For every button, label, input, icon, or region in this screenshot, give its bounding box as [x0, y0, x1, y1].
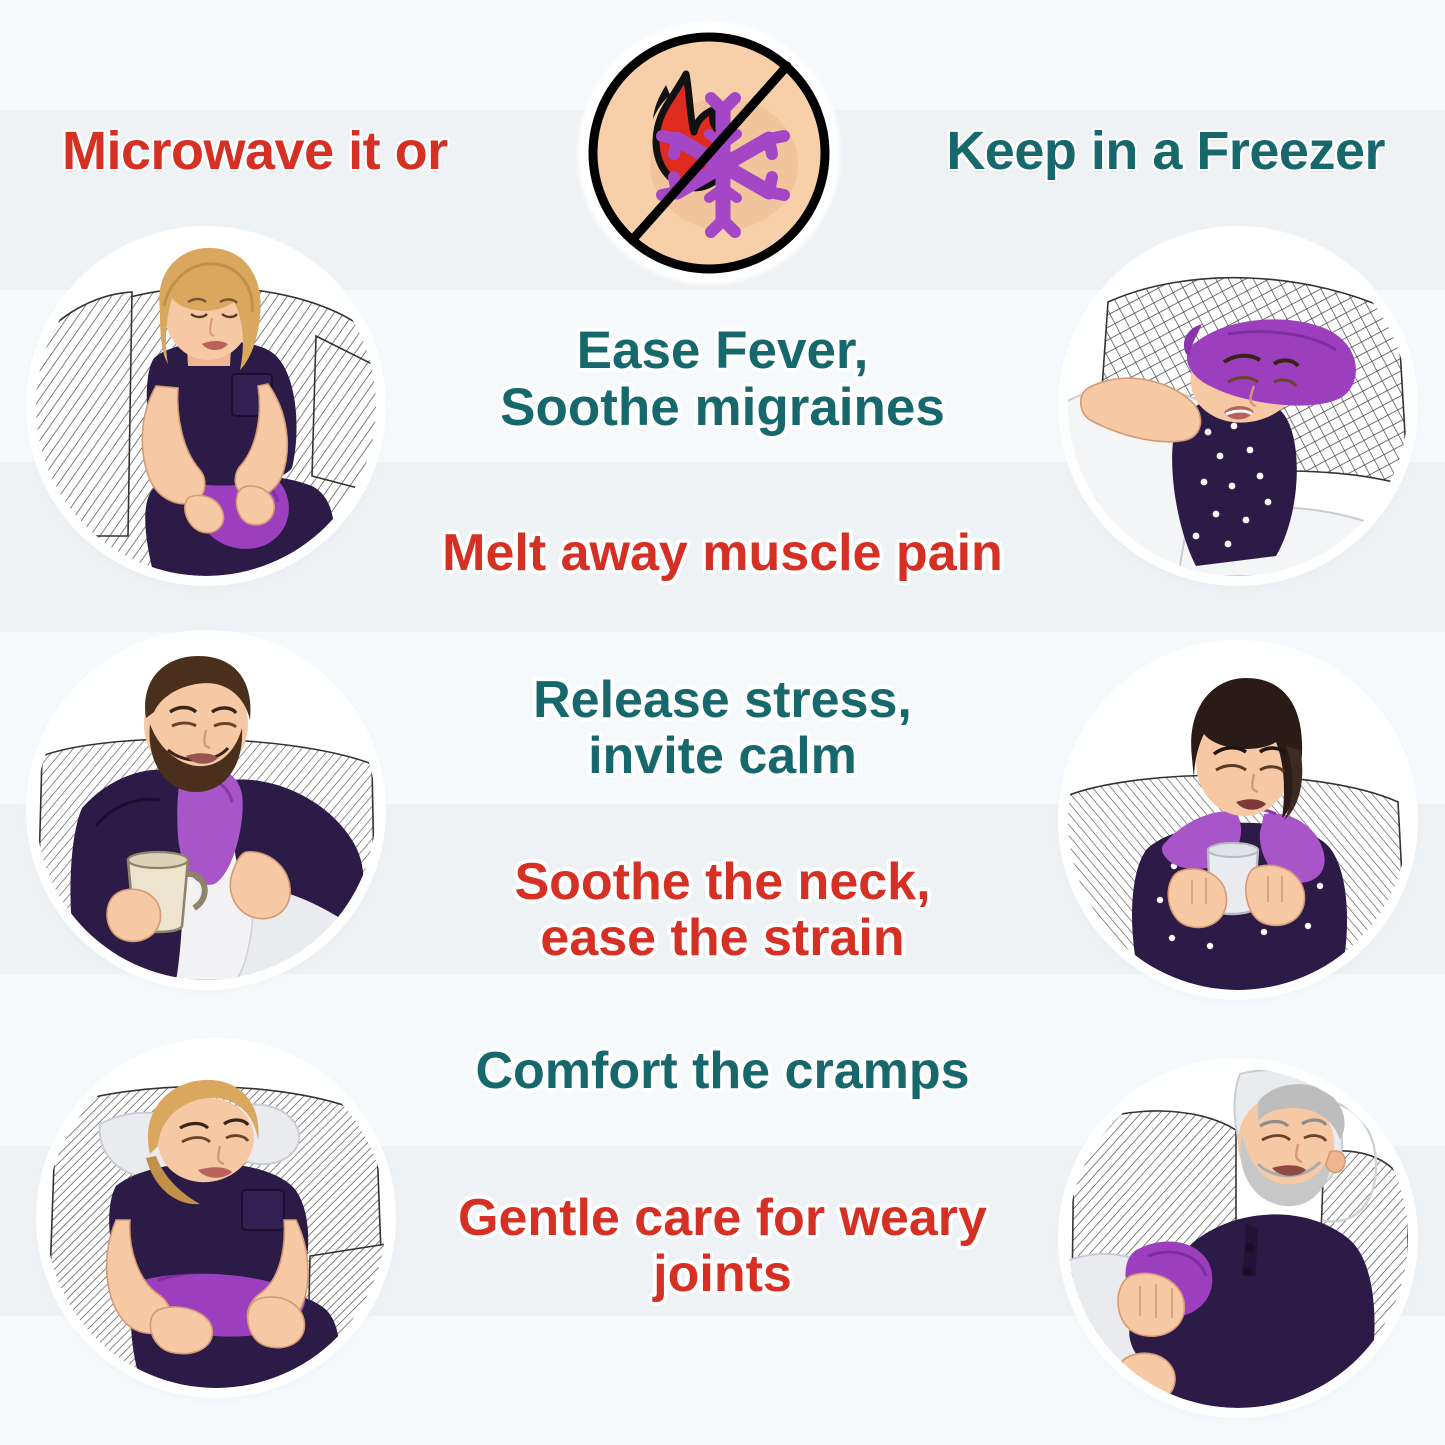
- photo-bearded-man-neck-wrap-mug: [36, 640, 376, 980]
- benefit-line-2: Release stress, invite calm: [363, 672, 1083, 784]
- badge-artwork: [578, 22, 840, 284]
- benefit-line-3: Soothe the neck, ease the strain: [363, 854, 1083, 966]
- infographic-canvas: Microwave it or Keep in a Freezer: [0, 0, 1445, 1445]
- photo-woman-forehead-cold-pack: [1068, 236, 1408, 576]
- photo-woman-abdomen-pack-reclining: [46, 1048, 386, 1388]
- header-freezer: Keep in a Freezer: [946, 120, 1385, 182]
- benefit-line-4: Comfort the cramps: [363, 1043, 1083, 1099]
- photo-woman-shoulder-wrap-mug: [1068, 650, 1408, 990]
- hot-cold-badge: [578, 22, 840, 284]
- benefit-line-5: Gentle care for weary joints: [363, 1190, 1083, 1302]
- benefit-line-0: Ease Fever, Soothe migraines: [363, 322, 1083, 436]
- photo-blonde-woman-knee-heat-pack: [36, 236, 376, 576]
- header-microwave: Microwave it or: [62, 120, 448, 182]
- photo-elderly-man-elbow-pack: [1068, 1068, 1408, 1408]
- benefit-line-1: Melt away muscle pain: [363, 525, 1083, 581]
